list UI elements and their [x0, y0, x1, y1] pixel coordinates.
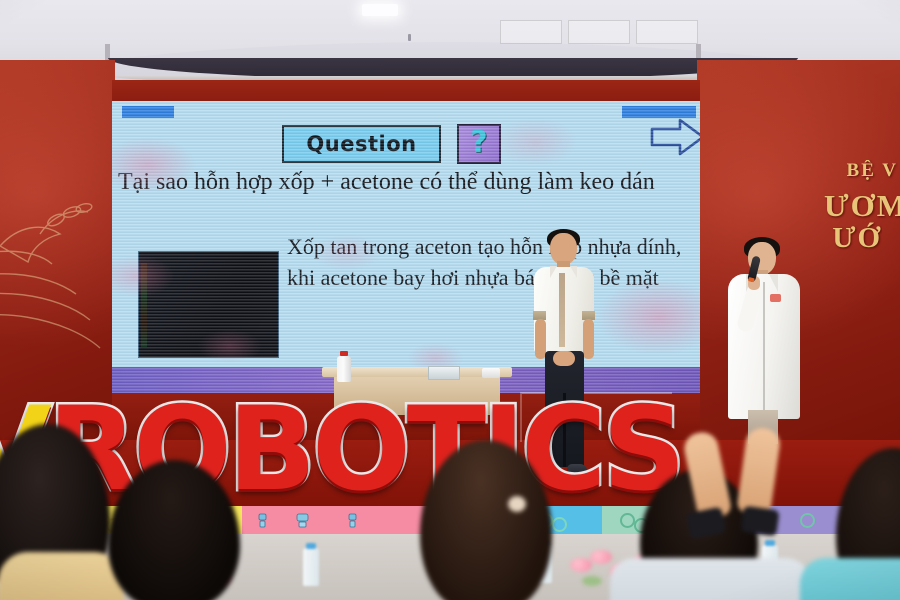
footer-chip-far-right	[672, 106, 696, 118]
student-clasped-hands	[553, 351, 575, 366]
led-screen: Question ? Tại sao hỗn hợp xốp + acetone…	[112, 101, 700, 393]
slide-question-text: Tại sao hỗn hợp xốp + acetone có thể dùn…	[118, 169, 698, 196]
student-shirt-placket	[559, 273, 565, 347]
audience-shirt	[610, 558, 810, 600]
student-collar-left	[550, 266, 557, 278]
slide-answer-text: Xốp tan trong aceton tạo hỗn hợp nhựa dí…	[287, 231, 700, 293]
arrow-right-icon	[650, 117, 700, 157]
student-collar-right	[570, 266, 577, 278]
question-badge-label: Question	[306, 132, 416, 156]
stage-scene: BỆ V ƯƠM ƯỚ Question ? Tại sao hỗn hợp x…	[0, 0, 900, 600]
presenter-lapel-right	[769, 274, 778, 292]
audience-head-2	[108, 460, 240, 600]
footer-chip-left	[122, 106, 174, 118]
robot-character-icon	[256, 510, 269, 530]
apron-tile	[568, 20, 630, 44]
student-leg-gap	[563, 393, 566, 467]
audience-shoulders	[0, 552, 124, 600]
question-mark-icon: ?	[457, 124, 501, 164]
strip-segment-pink	[242, 506, 432, 534]
table-body	[334, 377, 500, 415]
water-bottle	[303, 548, 319, 586]
robot-character-icon	[294, 510, 312, 530]
student-shoe-right	[567, 464, 587, 480]
backdrop-wall-left	[0, 60, 115, 440]
apron-tile	[500, 20, 562, 44]
clear-tray	[428, 366, 460, 380]
robot-character-icon	[346, 510, 359, 530]
audience-head-3	[420, 440, 552, 600]
presenter-coat-logo	[770, 294, 781, 302]
hair-clip	[508, 496, 526, 512]
question-mark-glyph: ?	[470, 128, 487, 158]
audience-head-5	[836, 448, 900, 600]
apron-tile	[636, 20, 698, 44]
slide-photo-dark	[138, 251, 279, 358]
lab-coat-presenter	[722, 240, 806, 440]
footer-chip-right	[622, 106, 674, 118]
banner-line-2: ƯƠM	[824, 188, 900, 224]
audience-hair	[108, 460, 240, 600]
audience-head-1	[0, 424, 110, 600]
student-arm-right	[583, 319, 594, 359]
white-cup	[482, 368, 500, 378]
audience-hair	[420, 440, 552, 600]
question-badge: Question	[282, 125, 441, 163]
banner-line-1: BỆ V	[847, 160, 898, 182]
ceiling-fixture-icon	[408, 34, 411, 41]
sleeve-cuff-right	[740, 506, 779, 537]
white-bottle-red-cap	[337, 356, 351, 382]
presenter-coat-seam	[763, 282, 765, 412]
banner-line-3: ƯỚ	[832, 222, 882, 255]
ceiling-light-panel	[362, 4, 398, 16]
audience-shirt	[800, 558, 900, 600]
screen-top-trim	[112, 80, 700, 102]
